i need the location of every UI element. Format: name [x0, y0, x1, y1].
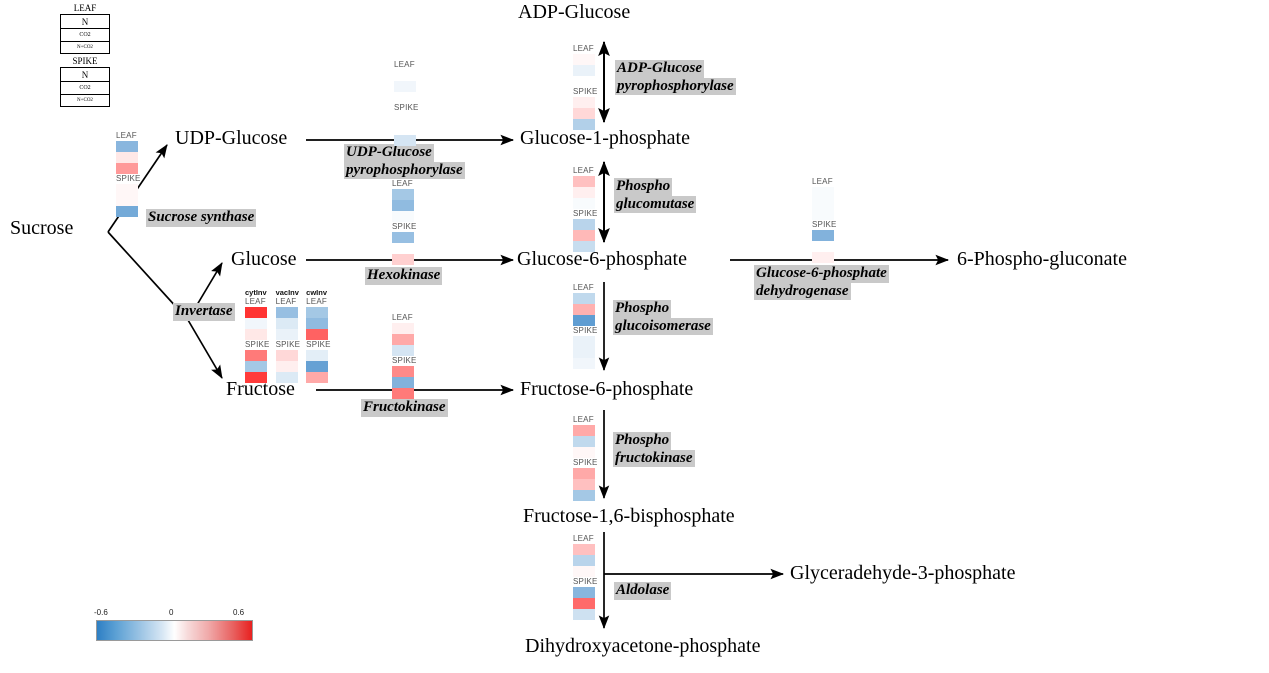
heatmap-cell [812, 187, 834, 198]
heatmap-cell [573, 555, 595, 566]
heatmap-cell [573, 304, 595, 315]
enzyme-phospho-fructokinase: Phospho fructokinase [613, 432, 695, 467]
heatmap-cell [812, 241, 834, 252]
enzyme-line-1: ADP-Glucose [615, 60, 704, 78]
enzyme-adp-glucose-pyrophosphorylase: ADP-Glucose pyrophosphorylase [615, 60, 736, 95]
heatmap-row-caption-spike: SPIKE [306, 340, 331, 350]
heatmap-row-caption-spike: SPIKE [276, 340, 301, 350]
heatmap-cell [392, 334, 414, 345]
heatmap-row-caption-spike: SPIKE [573, 209, 598, 219]
heatmap-columns: LEAFSPIKE [573, 44, 598, 130]
heatmap-cell [392, 366, 414, 377]
heatmap-cell [245, 307, 267, 318]
heatmap-column-header: vacInv [276, 288, 301, 297]
heatmap-cell [573, 447, 595, 458]
heatmap-row-caption-leaf: LEAF [573, 534, 598, 544]
enzyme-line-1: Fructokinase [361, 399, 448, 417]
enzyme-line-1: Phospho [613, 432, 671, 450]
heatmap-cell [812, 230, 834, 241]
heatmap-row-caption-leaf: LEAF [394, 60, 419, 70]
heatmap-columns: LEAFSPIKE [812, 177, 837, 263]
heatmap-row-caption-spike: SPIKE [392, 222, 417, 232]
heatmap-cell [116, 141, 138, 152]
heatmap-cell [812, 252, 834, 263]
heatmap-cell [573, 425, 595, 436]
enzyme-line-1: Phospho [614, 178, 672, 196]
treatment-legend-leaf-table: N CO2 N+CO2 [60, 14, 110, 54]
heatmap-cell [573, 336, 595, 347]
heatmap-cell [573, 176, 595, 187]
metabolite-glucose-6-phosphate: Glucose-6-phosphate [517, 249, 687, 269]
heatmap-cell [276, 329, 298, 340]
heatmap-cell [573, 119, 595, 130]
heatmap-cell [573, 479, 595, 490]
heatmap-columns: LEAFSPIKE [116, 131, 141, 217]
heatmap-cell [573, 315, 595, 326]
heatmap-cell [394, 135, 416, 146]
heatmap-column: LEAFSPIKE [573, 283, 598, 369]
heatmap-cell [116, 206, 138, 217]
heatmap-column: LEAFSPIKE [573, 166, 598, 252]
heatmap-cell [573, 198, 595, 209]
heatmap-columns: cytInvLEAFSPIKEvacInvLEAFSPIKEcwInvLEAFS… [245, 288, 331, 383]
heatmap-phospho-fructokinase: LEAFSPIKE [573, 415, 598, 501]
enzyme-fructokinase: Fructokinase [361, 399, 448, 417]
heatmap-cell [573, 566, 595, 577]
heatmap-row-caption-leaf: LEAF [573, 415, 598, 425]
enzyme-line-2: fructokinase [613, 450, 695, 468]
color-scale-min-label: -0.6 [94, 608, 108, 617]
heatmap-column: LEAFSPIKE [573, 534, 598, 620]
heatmap-cell [392, 345, 414, 356]
heatmap-cell [812, 209, 834, 220]
heatmap-cell [573, 358, 595, 369]
heatmap-cell [392, 200, 414, 211]
legend-cell-spike-nco2: N+CO2 [61, 95, 110, 107]
heatmap-column: LEAFSPIKE [573, 44, 598, 130]
heatmap-cell [573, 490, 595, 501]
heatmap-column: LEAFSPIKE [573, 415, 598, 501]
heatmap-cell [276, 361, 298, 372]
heatmap-cell [306, 329, 328, 340]
heatmap-row-caption-leaf: LEAF [245, 297, 270, 307]
color-scale-bar [96, 620, 253, 641]
heatmap-cell [394, 70, 416, 81]
heatmap-cell [573, 108, 595, 119]
heatmap-cell [116, 195, 138, 206]
heatmap-cell [573, 97, 595, 108]
enzyme-line-2: pyrophosphorylase [615, 78, 736, 96]
enzyme-udp-glucose-pyrophosphorylase: UDP-Glucose pyrophosphorylase [344, 144, 465, 179]
heatmap-cell [245, 329, 267, 340]
treatment-legend-spike-table: N CO2 N+CO2 [60, 67, 110, 107]
enzyme-line-1: Invertase [173, 303, 235, 321]
heatmap-cell [394, 113, 416, 124]
heatmap-column: LEAFSPIKE [116, 131, 141, 217]
metabolite-6-phospho-gluconate: 6-Phospho-gluconate [957, 249, 1127, 269]
metabolite-fructose-6-phosphate: Fructose-6-phosphate [520, 379, 693, 399]
legend-cell-leaf-co2: CO2 [61, 29, 110, 42]
metabolite-glucose: Glucose [231, 249, 297, 269]
heatmap-cell [573, 587, 595, 598]
heatmap-cell [116, 184, 138, 195]
heatmap-cell [392, 388, 414, 399]
enzyme-line-1: Phospho [613, 300, 671, 318]
heatmap-row-caption-leaf: LEAF [573, 166, 598, 176]
heatmap-row-caption-spike: SPIKE [573, 87, 598, 97]
heatmap-column-header: cytInv [245, 288, 270, 297]
heatmap-cell [276, 307, 298, 318]
enzyme-sucrose-synthase: Sucrose synthase [146, 209, 256, 227]
enzyme-invertase: Invertase [173, 303, 235, 321]
metabolite-dihydroxyacetone-phosphate: Dihydroxyacetone-phosphate [525, 636, 760, 656]
heatmap-cell [573, 54, 595, 65]
heatmap-cell [276, 350, 298, 361]
metabolite-sucrose: Sucrose [10, 218, 73, 238]
legend-cell-spike-co2: CO2 [61, 82, 110, 95]
heatmap-cell [394, 92, 416, 103]
heatmap-cell [392, 323, 414, 334]
heatmap-cell [812, 198, 834, 209]
heatmap-columns: LEAFSPIKE [573, 283, 598, 369]
enzyme-line-1: Glucose-6-phosphate [754, 265, 889, 283]
enzyme-line-2: pyrophosphorylase [344, 162, 465, 180]
heatmap-column: cwInvLEAFSPIKE [306, 288, 331, 383]
heatmap-invertase: cytInvLEAFSPIKEvacInvLEAFSPIKEcwInvLEAFS… [245, 288, 331, 383]
heatmap-cell [245, 350, 267, 361]
heatmap-cell [245, 361, 267, 372]
heatmap-cell [276, 318, 298, 329]
heatmap-column: LEAFSPIKE [394, 60, 419, 146]
heatmap-columns: LEAFSPIKE [392, 179, 417, 265]
heatmap-phospho-glucomutase: LEAFSPIKE [573, 166, 598, 252]
heatmap-row-caption-leaf: LEAF [276, 297, 301, 307]
heatmap-column-header: cwInv [306, 288, 331, 297]
heatmap-sucrose-synthase: LEAFSPIKE [116, 131, 141, 217]
heatmap-columns: LEAFSPIKE [394, 60, 419, 146]
heatmap-cell [573, 598, 595, 609]
heatmap-cell [573, 468, 595, 479]
heatmap-columns: LEAFSPIKE [573, 534, 598, 620]
metabolite-udp-glucose: UDP-Glucose [175, 128, 287, 148]
heatmap-cell [306, 307, 328, 318]
heatmap-row-caption-spike: SPIKE [573, 326, 598, 336]
heatmap-hexokinase: LEAFSPIKE [392, 179, 417, 265]
heatmap-column: LEAFSPIKE [812, 177, 837, 263]
heatmap-udp-glucose-pyrophosphorylase: LEAFSPIKE [394, 60, 419, 146]
heatmap-cell [306, 318, 328, 329]
treatment-legend-spike-title: SPIKE [60, 56, 110, 67]
heatmap-row-caption-spike: SPIKE [573, 458, 598, 468]
heatmap-cell [573, 65, 595, 76]
heatmap-cell [116, 163, 138, 174]
heatmap-row-caption-spike: SPIKE [116, 174, 141, 184]
pathway-arrows [0, 0, 1269, 673]
heatmap-cell [573, 436, 595, 447]
heatmap-cell [392, 211, 414, 222]
treatment-legend: LEAF N CO2 N+CO2 SPIKE N CO2 N+CO2 [60, 3, 110, 107]
heatmap-cell [276, 372, 298, 383]
heatmap-phospho-glucoisomerase: LEAFSPIKE [573, 283, 598, 369]
heatmap-row-caption-leaf: LEAF [573, 283, 598, 293]
heatmap-fructokinase: LEAFSPIKE [392, 313, 417, 399]
enzyme-line-1: Sucrose synthase [146, 209, 256, 227]
enzyme-line-2: glucoisomerase [613, 318, 713, 336]
heatmap-cell [573, 230, 595, 241]
color-scale-mid-label: 0 [169, 608, 173, 617]
heatmap-row-caption-spike: SPIKE [392, 356, 417, 366]
heatmap-columns: LEAFSPIKE [573, 166, 598, 252]
heatmap-cell [573, 347, 595, 358]
heatmap-cell [394, 124, 416, 135]
heatmap-column: LEAFSPIKE [392, 313, 417, 399]
heatmap-row-caption-spike: SPIKE [245, 340, 270, 350]
heatmap-cell [394, 81, 416, 92]
heatmap-cell [306, 372, 328, 383]
enzyme-line-1: Hexokinase [365, 267, 442, 285]
heatmap-cell [573, 293, 595, 304]
heatmap-aldolase: LEAFSPIKE [573, 534, 598, 620]
heatmap-cell [392, 232, 414, 243]
enzyme-glucose-6-phosphate-dehydrogenase: Glucose-6-phosphate dehydrogenase [754, 265, 889, 300]
heatmap-cell [573, 187, 595, 198]
heatmap-cell [573, 544, 595, 555]
heatmap-row-caption-spike: SPIKE [394, 103, 419, 113]
heatmap-cell [573, 76, 595, 87]
heatmap-adp-glucose-pyrophosphorylase: LEAFSPIKE [573, 44, 598, 130]
color-scale-legend: -0.6 0 0.6 [96, 608, 253, 641]
enzyme-phospho-glucomutase: Phospho glucomutase [614, 178, 696, 213]
heatmap-glucose-6-phosphate-dehydrogenase: LEAFSPIKE [812, 177, 837, 263]
heatmap-row-caption-spike: SPIKE [812, 220, 837, 230]
heatmap-cell [573, 219, 595, 230]
legend-cell-spike-n: N [61, 68, 110, 82]
enzyme-line-2: dehydrogenase [754, 283, 851, 301]
heatmap-cell [116, 152, 138, 163]
heatmap-cell [245, 318, 267, 329]
treatment-legend-leaf-title: LEAF [60, 3, 110, 14]
heatmap-row-caption-leaf: LEAF [306, 297, 331, 307]
heatmap-cell [392, 189, 414, 200]
metabolite-adp-glucose: ADP-Glucose [518, 2, 630, 22]
enzyme-line-2: glucomutase [614, 196, 696, 214]
metabolite-glucose-1-phosphate: Glucose-1-phosphate [520, 128, 690, 148]
heatmap-columns: LEAFSPIKE [392, 313, 417, 399]
enzyme-aldolase: Aldolase [614, 582, 671, 600]
enzyme-line-1: UDP-Glucose [344, 144, 434, 162]
heatmap-column: cytInvLEAFSPIKE [245, 288, 270, 383]
metabolite-glyceraldehyde-3-phosphate: Glyceradehyde-3-phosphate [790, 563, 1015, 583]
heatmap-row-caption-leaf: LEAF [573, 44, 598, 54]
heatmap-cell [306, 361, 328, 372]
heatmap-column: LEAFSPIKE [392, 179, 417, 265]
heatmap-cell [573, 609, 595, 620]
enzyme-line-1: Aldolase [614, 582, 671, 600]
heatmap-cell [392, 377, 414, 388]
heatmap-cell [392, 254, 414, 265]
heatmap-row-caption-spike: SPIKE [573, 577, 598, 587]
heatmap-row-caption-leaf: LEAF [392, 313, 417, 323]
legend-cell-leaf-n: N [61, 15, 110, 29]
heatmap-column: vacInvLEAFSPIKE [276, 288, 301, 383]
heatmap-row-caption-leaf: LEAF [812, 177, 837, 187]
heatmap-cell [573, 241, 595, 252]
heatmap-cell [392, 243, 414, 254]
heatmap-row-caption-leaf: LEAF [392, 179, 417, 189]
heatmap-columns: LEAFSPIKE [573, 415, 598, 501]
enzyme-phospho-glucoisomerase: Phospho glucoisomerase [613, 300, 713, 335]
enzyme-hexokinase: Hexokinase [365, 267, 442, 285]
metabolite-fructose-1-6-bisphosphate: Fructose-1,6-bisphosphate [523, 506, 735, 526]
legend-cell-leaf-nco2: N+CO2 [61, 42, 110, 54]
heatmap-cell [306, 350, 328, 361]
heatmap-cell [245, 372, 267, 383]
heatmap-row-caption-leaf: LEAF [116, 131, 141, 141]
color-scale-max-label: 0.6 [233, 608, 244, 617]
